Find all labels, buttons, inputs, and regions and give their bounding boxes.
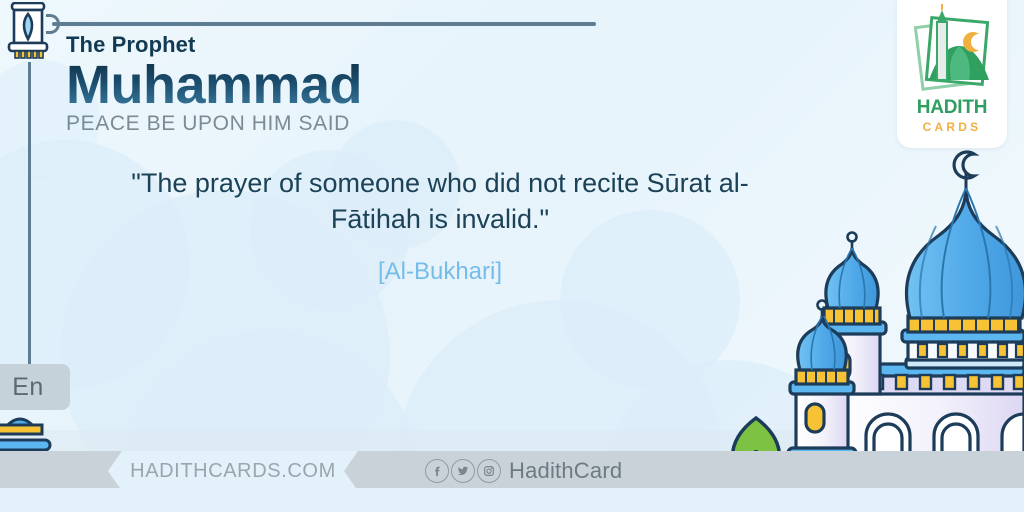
ground-strip: [0, 488, 1024, 512]
instagram-icon[interactable]: [477, 459, 501, 483]
header-block: The Prophet Muhammad PEACE BE UPON HIM S…: [66, 34, 362, 134]
hadith-source: [Al-Bukhari]: [100, 258, 780, 286]
footer-website[interactable]: HADITHCARDS.COM: [108, 451, 358, 491]
mosque-photo-card-icon: [897, 4, 1007, 99]
hadith-quote: "The prayer of someone who did not recit…: [100, 166, 780, 238]
footer-social-group: HadithCard: [425, 451, 622, 491]
logo-title-hadith: HADITH: [897, 97, 1007, 119]
hadithcards-logo[interactable]: HADITH CARDS: [897, 0, 1007, 148]
language-badge-label: En: [12, 373, 44, 402]
subtitle-text: PEACE BE UPON HIM SAID: [66, 113, 362, 134]
twitter-icon[interactable]: [451, 459, 475, 483]
logo-title-cards: CARDS: [897, 120, 1007, 134]
header-rule: [52, 22, 596, 26]
eyebrow-text: The Prophet: [66, 34, 362, 56]
vertical-rule: [28, 62, 31, 364]
footer-social-handle[interactable]: HadithCard: [509, 458, 622, 484]
language-badge[interactable]: En: [0, 364, 70, 410]
hadith-card: The Prophet Muhammad PEACE BE UPON HIM S…: [0, 0, 1024, 512]
lantern-icon: [4, 2, 52, 64]
facebook-icon[interactable]: [425, 459, 449, 483]
page-title: Muhammad: [66, 58, 362, 113]
